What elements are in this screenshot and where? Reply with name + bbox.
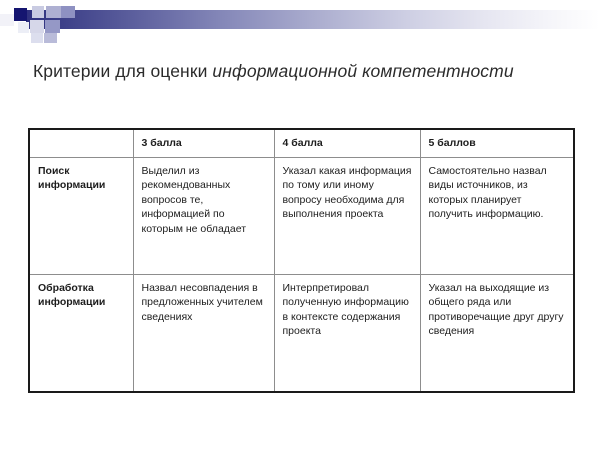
page-title-emphasis: информационной компетентности — [212, 61, 513, 81]
cell-search-5-points: Самостоятельно назвал виды источников, и… — [420, 158, 574, 275]
decor-square-pale-left — [0, 14, 14, 26]
header-cell-3-points: 3 балла — [133, 129, 274, 158]
page-title-plain: Критерии для оценки — [33, 61, 212, 81]
decor-square-b — [32, 6, 44, 18]
decor-square-h — [31, 33, 43, 43]
page-title: Критерии для оценки информационной компе… — [33, 61, 573, 82]
decor-square-g — [45, 20, 60, 33]
row-label-search-information: Поиск информации — [29, 158, 133, 275]
table-header-row: 3 балла 4 балла 5 баллов — [29, 129, 574, 158]
header-cell-5-points: 5 баллов — [420, 129, 574, 158]
criteria-table: 3 балла 4 балла 5 баллов Поиск информаци… — [28, 128, 575, 393]
table-row: Поиск информации Выделил из рекомендован… — [29, 158, 574, 275]
table-row: Обработка информации Назвал несовпадения… — [29, 275, 574, 393]
decor-square-i — [44, 33, 57, 43]
decor-gradient-bar — [26, 10, 600, 29]
cell-processing-5-points: Указал на выходящие из общего ряда или п… — [420, 275, 574, 393]
header-cell-empty — [29, 129, 133, 158]
cell-search-3-points: Выделил из рекомендованных вопросов те, … — [133, 158, 274, 275]
row-label-processing-information: Обработка информации — [29, 275, 133, 393]
decor-square-e — [18, 22, 29, 33]
slide-header-decoration — [0, 0, 600, 46]
cell-processing-4-points: Интерпретировал полученную информацию в … — [274, 275, 420, 393]
decor-square-f — [30, 20, 44, 33]
decor-square-d — [61, 6, 75, 18]
cell-processing-3-points: Назвал несовпадения в предложенных учите… — [133, 275, 274, 393]
decor-square-accent — [14, 8, 27, 21]
header-cell-4-points: 4 балла — [274, 129, 420, 158]
cell-search-4-points: Указал какая информация по тому или ином… — [274, 158, 420, 275]
decor-square-c — [46, 6, 61, 18]
